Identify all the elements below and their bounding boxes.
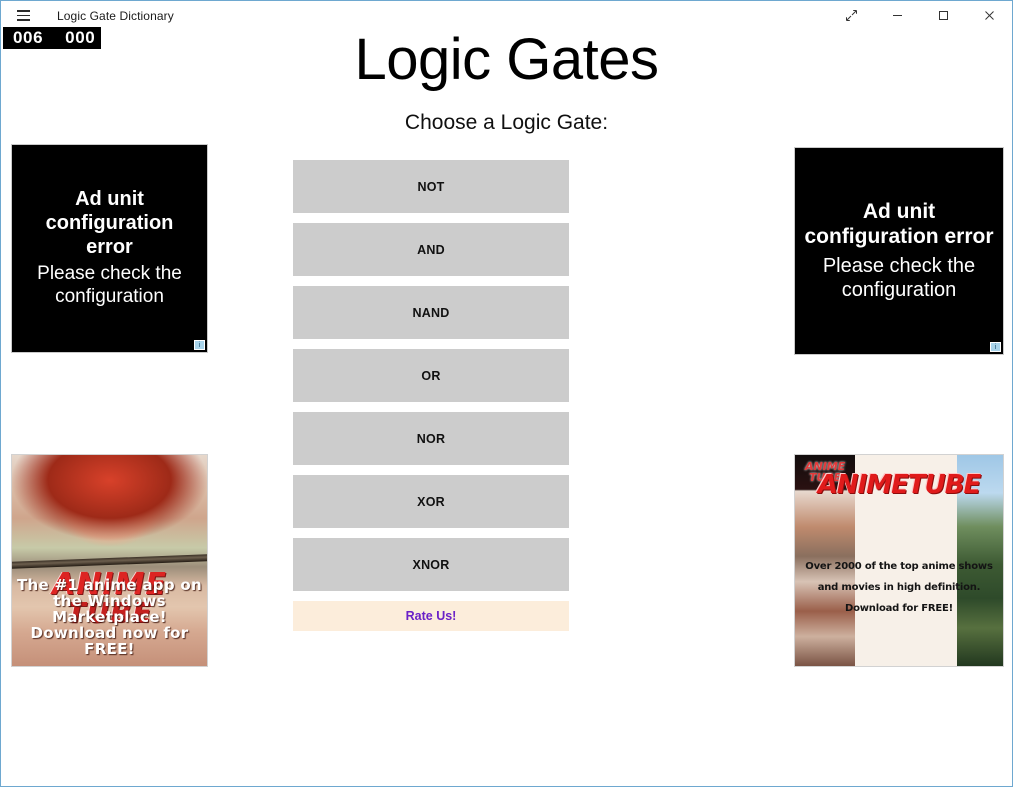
ad-banner-left[interactable]: ANIME TUBE The #1 anime app on the Windo… [11, 454, 208, 667]
ad-banner-tagline: Over 2000 of the top anime shows and mov… [795, 556, 1003, 619]
gate-button-nor[interactable]: NOR [293, 412, 569, 465]
page-subtitle: Choose a Logic Gate: [1, 111, 1012, 135]
gate-button-nand[interactable]: NAND [293, 286, 569, 339]
gate-button-xor[interactable]: XOR [293, 475, 569, 528]
close-icon[interactable] [966, 1, 1012, 30]
title-bar: Logic Gate Dictionary [1, 1, 1012, 30]
expand-icon[interactable] [828, 1, 874, 30]
gate-button-xnor[interactable]: XNOR [293, 538, 569, 591]
gate-button-and[interactable]: AND [293, 223, 569, 276]
ad-banner-tagline: The #1 anime app on the Windows Marketpl… [12, 577, 207, 658]
ad-error-panel-right[interactable]: Ad unit configuration error Please check… [794, 147, 1004, 355]
maximize-icon[interactable] [920, 1, 966, 30]
ad-banner-right[interactable]: ANIME TUBE ANIMETUBE Over 2000 of the to… [794, 454, 1004, 667]
application-window: Logic Gate Dictionary [0, 0, 1013, 787]
window-controls [828, 1, 1012, 30]
adchoices-icon[interactable]: i [194, 340, 205, 350]
gate-button-or[interactable]: OR [293, 349, 569, 402]
hamburger-menu-icon[interactable] [1, 1, 45, 30]
ad-error-subtitle: Please check the configuration [12, 263, 207, 309]
counter-left-value: 006 [13, 28, 43, 48]
ad-banner-logo: ANIMETUBE [795, 472, 1003, 498]
window-title: Logic Gate Dictionary [57, 9, 174, 23]
ad-error-subtitle: Please check the configuration [795, 254, 1003, 302]
debug-counter-overlay: 006 000 [3, 27, 101, 49]
counter-right-value: 000 [65, 28, 95, 48]
hamburger-line [17, 10, 30, 12]
adchoices-icon[interactable]: i [990, 342, 1001, 352]
ad-error-title: Ad unit configuration error [12, 188, 207, 259]
rate-us-button[interactable]: Rate Us! [293, 601, 569, 631]
ad-error-title: Ad unit configuration error [795, 200, 1003, 250]
page-title: Logic Gates [1, 27, 1012, 94]
gate-button-not[interactable]: NOT [293, 160, 569, 213]
gate-button-list: NOT AND NAND OR NOR XOR XNOR Rate Us! [293, 160, 569, 631]
ad-error-panel-left[interactable]: Ad unit configuration error Please check… [11, 144, 208, 353]
hamburger-line [17, 15, 30, 17]
minimize-icon[interactable] [874, 1, 920, 30]
hamburger-line [17, 19, 30, 21]
